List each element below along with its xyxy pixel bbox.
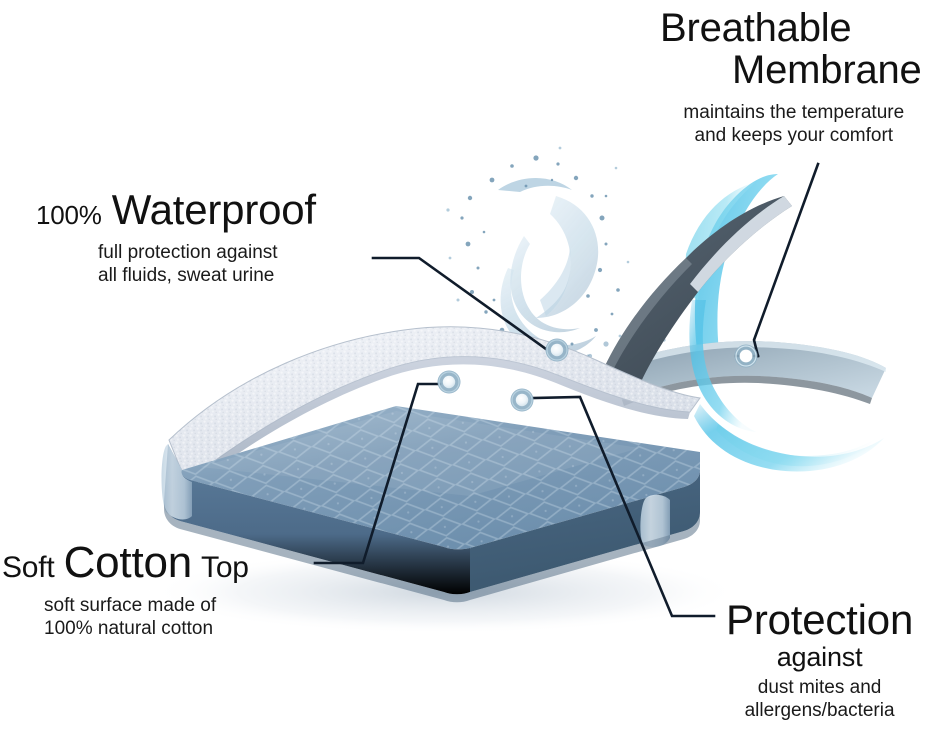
- membrane-subtitle-line1: maintains the temperature: [666, 101, 922, 124]
- membrane-subtitle: maintains the temperature and keeps your…: [660, 101, 922, 147]
- membrane-title-line1: Breathable: [660, 8, 922, 50]
- waterproof-subtitle: full protection against all fluids, swea…: [36, 241, 316, 287]
- cotton-title-word2: Cotton: [64, 540, 192, 586]
- protection-detail-line1: dust mites and: [726, 676, 913, 699]
- marker-membrane: [735, 345, 758, 368]
- protection-detail-line2: allergens/bacteria: [726, 699, 913, 722]
- cotton-title-word1: Soft: [2, 552, 55, 583]
- cotton-subtitle-line2: 100% natural cotton: [44, 617, 249, 640]
- callout-breathable-membrane: Breathable Membrane maintains the temper…: [660, 8, 922, 148]
- marker-waterproof: [546, 339, 569, 362]
- waterproof-title-word: Waterproof: [112, 188, 316, 232]
- callout-protection: Protection against dust mites and allerg…: [726, 598, 913, 722]
- cotton-title-word3: Top: [201, 552, 249, 583]
- membrane-title-line2: Membrane: [660, 50, 922, 92]
- protection-title: Protection: [726, 598, 913, 642]
- waterproof-subtitle-line1: full protection against: [98, 241, 316, 264]
- marker-cotton: [438, 371, 461, 394]
- protection-detail: dust mites and allergens/bacteria: [726, 676, 913, 722]
- protection-subtitle: against: [726, 642, 913, 672]
- leader-membrane: [754, 164, 818, 356]
- waterproof-subtitle-line2: all fluids, sweat urine: [98, 264, 316, 287]
- membrane-subtitle-line2: and keeps your comfort: [666, 124, 922, 147]
- infographic-page: Breathable Membrane maintains the temper…: [0, 0, 948, 732]
- callout-soft-cotton-top: Soft Cotton Top soft surface made of 100…: [2, 540, 249, 640]
- waterproof-title: 100% Waterproof: [36, 188, 316, 232]
- cotton-title: Soft Cotton Top: [2, 540, 249, 586]
- waterproof-percent: 100%: [36, 202, 102, 229]
- cotton-subtitle-line1: soft surface made of: [44, 594, 249, 617]
- callout-waterproof: 100% Waterproof full protection against …: [36, 188, 316, 287]
- marker-protection: [511, 389, 534, 412]
- cotton-subtitle: soft surface made of 100% natural cotton: [2, 594, 249, 640]
